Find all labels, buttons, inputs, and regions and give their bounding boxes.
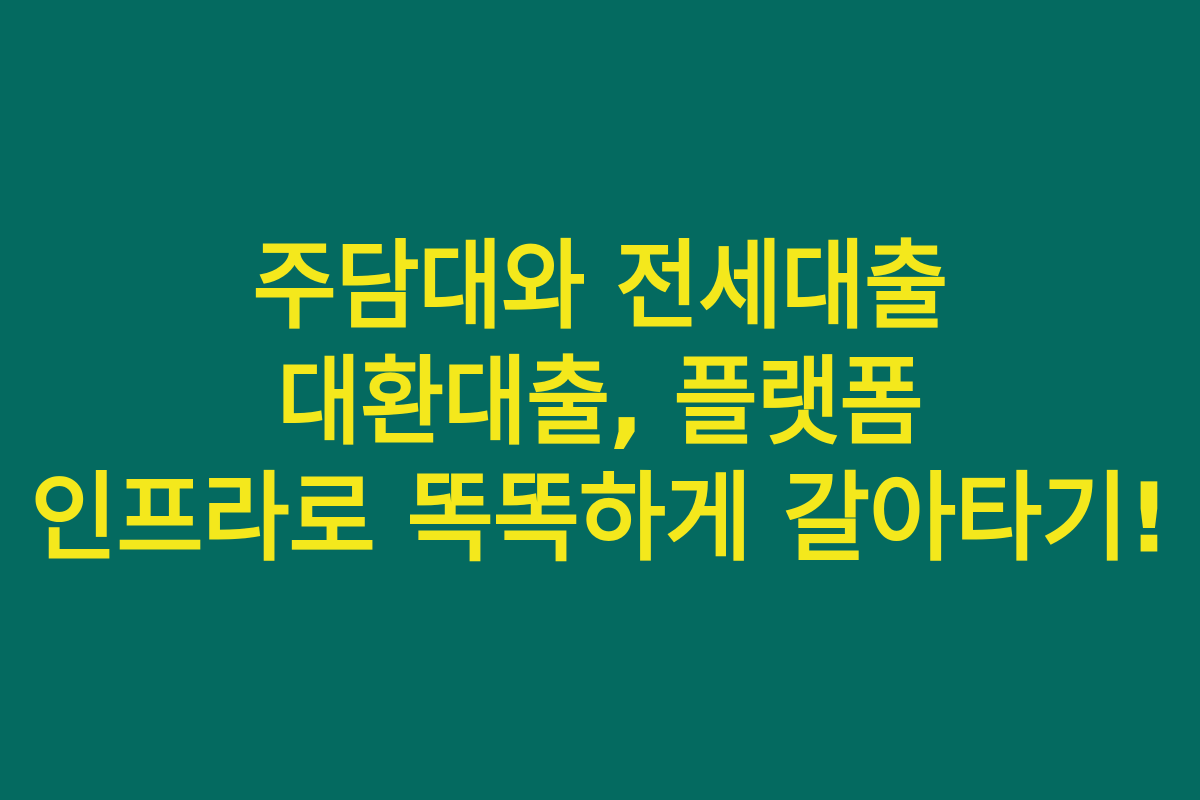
banner-background: 주담대와 전세대출 대환대출, 플랫폼 인프라로 똑똑하게 갈아타기! xyxy=(0,0,1200,800)
headline-line-3: 인프라로 똑똑하게 갈아타기! xyxy=(0,454,1200,584)
headline-line-1: 주담대와 전세대출 xyxy=(0,222,1200,352)
headline-text-block: 주담대와 전세대출 대환대출, 플랫폼 인프라로 똑똑하게 갈아타기! xyxy=(0,222,1200,582)
headline-line-2: 대환대출, 플랫폼 xyxy=(0,338,1200,468)
